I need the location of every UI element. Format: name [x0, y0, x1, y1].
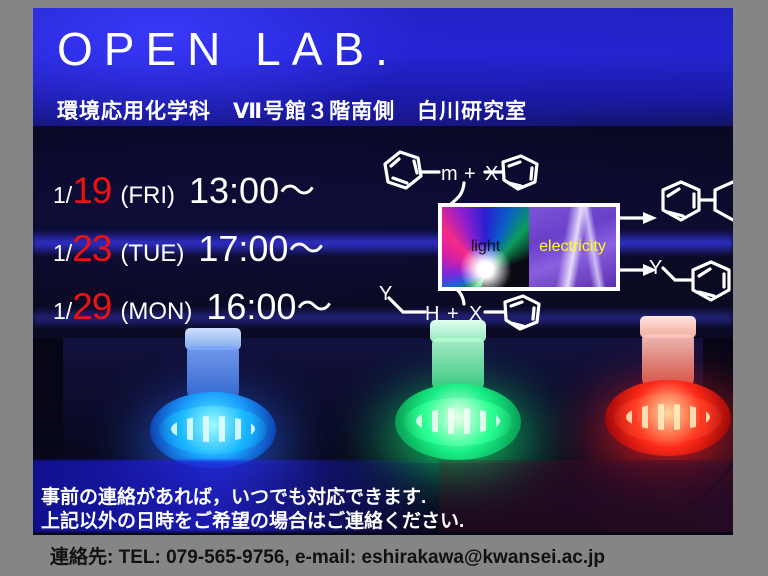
schedule-day: 29	[72, 286, 111, 328]
availability-note: 事前の連絡があれば，いつでも対応できます. 上記以外の日時をご希望の場合はご連絡…	[41, 486, 464, 534]
electricity-image: electricity	[529, 207, 616, 287]
plus-top: +	[464, 163, 476, 185]
photo-bottom-red-bar	[439, 460, 733, 532]
schedule-row: 1/ 19 (FRI) 13:00〜	[53, 162, 332, 220]
schedule-weekday: (MON)	[120, 298, 192, 326]
scheme-arrow-top	[616, 212, 657, 224]
reaction-scheme: m + X Y H + X Y light electricity	[363, 128, 733, 358]
contact-info: 連絡先: TEL: 079-565-9756, e-mail: eshiraka…	[50, 542, 605, 569]
label-m: m	[441, 163, 458, 185]
schedule-row: 1/ 23 (TUE) 17:00〜	[53, 220, 332, 278]
schedule-weekday: (FRI)	[120, 182, 175, 210]
subtitle: 環境応用化学科 Ⅶ号館３階南側 白川研究室	[57, 95, 527, 125]
schedule-list: 1/ 19 (FRI) 13:00〜 1/ 23 (TUE) 17:00〜 1/…	[53, 162, 332, 336]
schedule-time: 17:00〜	[198, 220, 324, 272]
benzene-reactant-bottom	[485, 296, 539, 329]
label-x-bottom: X	[469, 303, 482, 325]
schedule-month: 1/	[53, 182, 72, 209]
substrate-y-h	[389, 298, 425, 312]
light-label: light	[471, 238, 500, 256]
y-benzene-product	[663, 262, 729, 300]
flask-green-led-dots	[416, 408, 500, 434]
page-title: OPEN LAB.	[57, 26, 399, 72]
schedule-row: 1/ 29 (MON) 16:00〜	[53, 278, 332, 336]
flask-blue-led-dots	[171, 416, 255, 442]
schedule-month: 1/	[53, 240, 72, 267]
availability-note-line2: 上記以外の日時をご希望の場合はご連絡ください.	[41, 510, 464, 534]
benzene-reactant-top-left	[385, 152, 439, 188]
electricity-label: electricity	[539, 238, 606, 256]
schedule-weekday: (TUE)	[120, 240, 184, 268]
light-image: light	[442, 207, 529, 287]
label-x-top: X	[485, 163, 498, 185]
label-y-product: Y	[649, 257, 662, 279]
plus-bottom: +	[447, 303, 459, 325]
biphenyl-product	[663, 182, 733, 220]
label-y-bottom: Y	[379, 283, 392, 305]
light-electricity-box: light electricity	[438, 203, 620, 291]
schedule-day: 23	[72, 228, 111, 270]
schedule-time: 13:00〜	[189, 162, 315, 214]
label-h: H	[425, 303, 439, 325]
availability-note-line1: 事前の連絡があれば，いつでも対応できます.	[41, 486, 464, 510]
poster: OPEN LAB. 環境応用化学科 Ⅶ号館３階南側 白川研究室 1/ 19 (F…	[33, 8, 733, 535]
schedule-day: 19	[72, 170, 111, 212]
schedule-month: 1/	[53, 298, 72, 325]
schedule-time: 16:00〜	[206, 278, 332, 330]
